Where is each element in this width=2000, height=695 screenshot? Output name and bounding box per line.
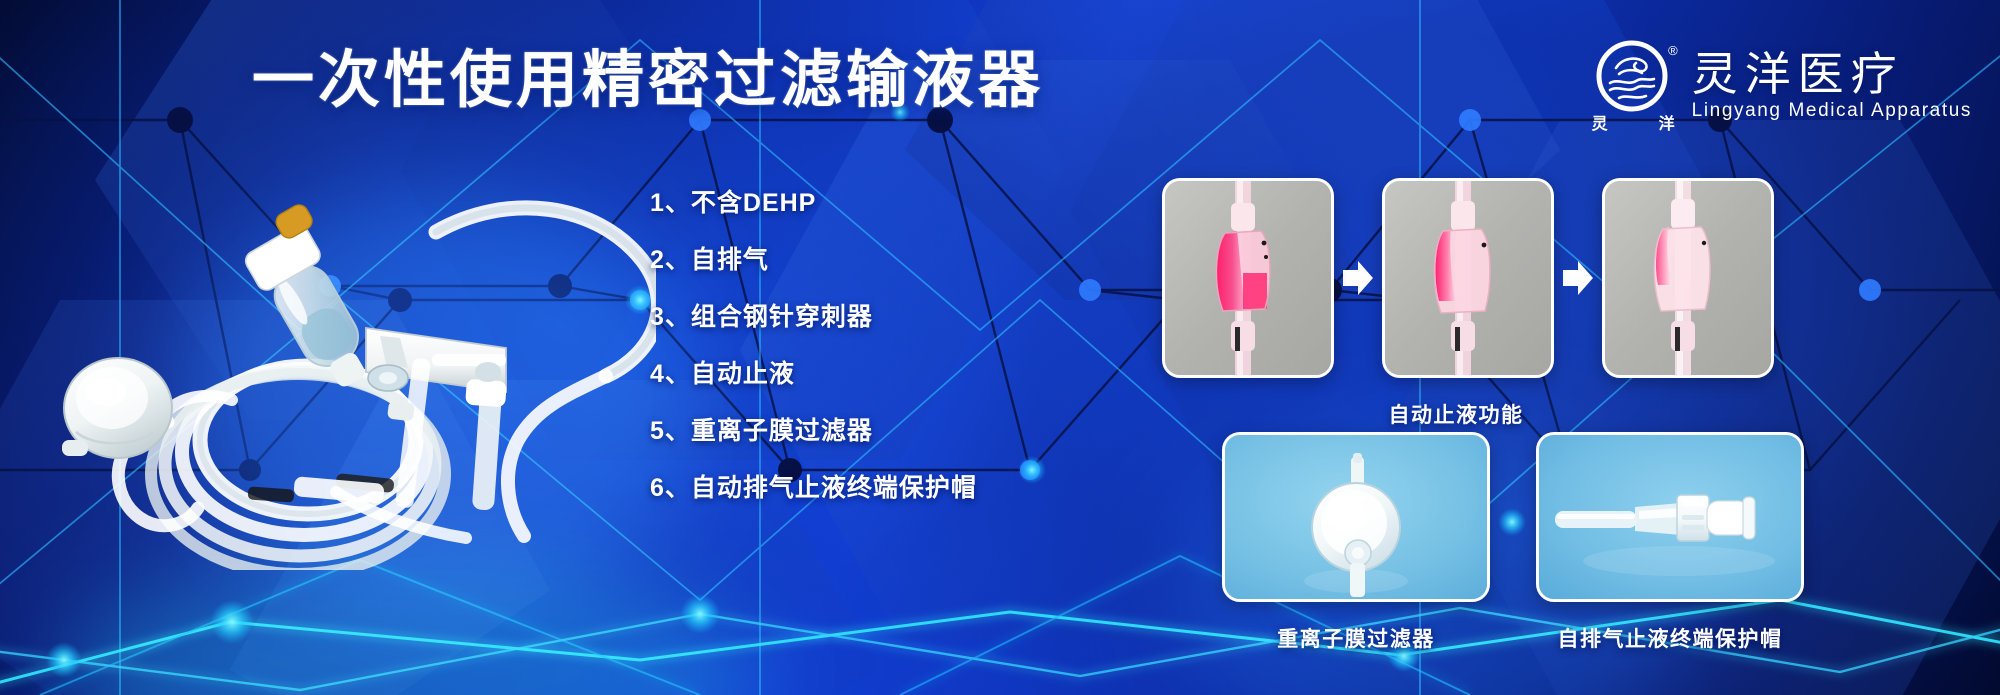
emblem-char-left: 灵 bbox=[1592, 110, 1609, 134]
registered-trademark-icon: ® bbox=[1668, 44, 1678, 57]
product-banner: 一次性使用精密过滤输液器 ® 灵 洋 灵洋医疗 Lingyang M bbox=[0, 0, 2000, 695]
list-item: 3、组合钢针穿刺器 bbox=[650, 289, 977, 346]
emblem-characters: 灵 洋 bbox=[1592, 110, 1676, 134]
company-name-cn: 灵洋医疗 bbox=[1692, 52, 1972, 98]
infusion-set-product-photo bbox=[36, 140, 656, 570]
lingyang-circular-emblem-icon: ® 灵 洋 bbox=[1592, 38, 1676, 134]
self-venting-terminal-cap bbox=[1536, 432, 1804, 602]
gallery-caption-filter: 重离子膜过滤器 bbox=[1277, 629, 1435, 650]
auto-stop-step-3 bbox=[1602, 178, 1774, 378]
list-item: 2、自排气 bbox=[650, 232, 977, 289]
brand-logo: ® 灵 洋 灵洋医疗 Lingyang Medical Apparatus bbox=[1592, 38, 1972, 134]
product-gallery bbox=[1222, 432, 1804, 602]
round-filter-part bbox=[62, 358, 172, 458]
list-item: 5、重离子膜过滤器 bbox=[650, 403, 977, 460]
feature-list: 1、不含DEHP 2、自排气 3、组合钢针穿刺器 4、自动止液 5、重离子膜过滤… bbox=[650, 175, 977, 517]
company-name-en: Lingyang Medical Apparatus bbox=[1692, 101, 1972, 120]
page-title: 一次性使用精密过滤输液器 bbox=[252, 50, 1044, 112]
list-item: 6、自动排气止液终端保护帽 bbox=[650, 460, 977, 517]
auto-stop-sequence bbox=[1162, 178, 1774, 378]
auto-stop-step-2 bbox=[1382, 178, 1554, 378]
list-item: 4、自动止液 bbox=[650, 346, 977, 403]
arrow-right-icon bbox=[1561, 258, 1595, 298]
heavy-ion-membrane-filter bbox=[1222, 432, 1490, 602]
emblem-char-right: 洋 bbox=[1659, 110, 1676, 134]
sequence-arrow-1 bbox=[1334, 258, 1382, 298]
sequence-arrow-2 bbox=[1554, 258, 1602, 298]
auto-stop-step-1 bbox=[1162, 178, 1334, 378]
brand-name-block: 灵洋医疗 Lingyang Medical Apparatus bbox=[1692, 52, 1972, 120]
gallery-caption-cap: 自排气止液终端保护帽 bbox=[1558, 629, 1783, 650]
sequence-caption: 自动止液功能 bbox=[1389, 405, 1524, 426]
list-item: 1、不含DEHP bbox=[650, 175, 977, 232]
arrow-right-icon bbox=[1341, 258, 1375, 298]
